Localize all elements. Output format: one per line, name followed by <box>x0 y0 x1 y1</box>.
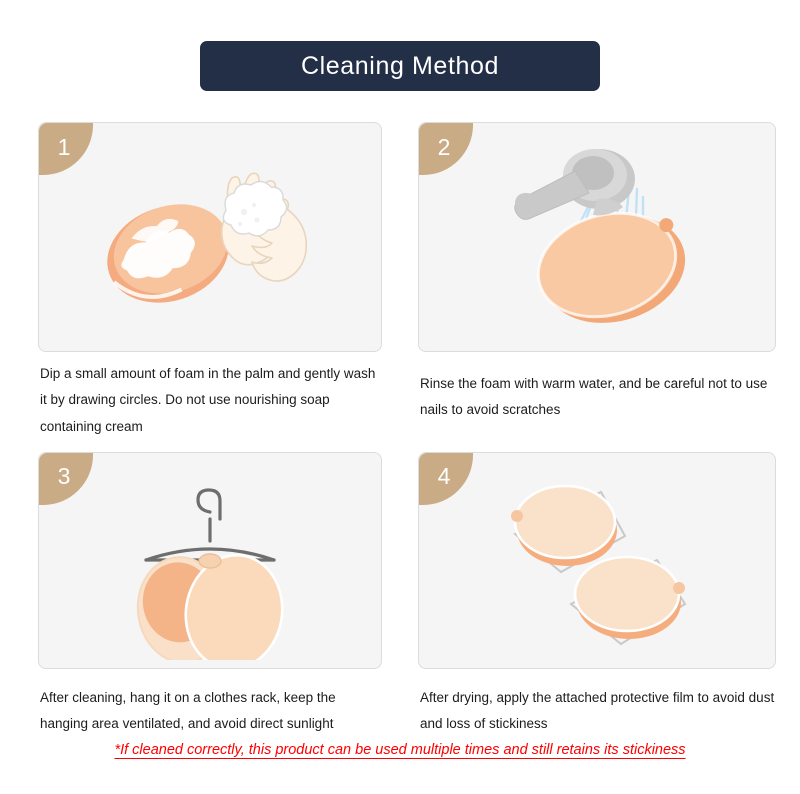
step-row-top: 1 <box>0 122 800 440</box>
step-caption-1: Dip a small amount of foam in the palm a… <box>38 361 382 440</box>
step-cell-1: 1 <box>0 122 400 440</box>
step-panel-1: 1 <box>38 122 382 352</box>
pads-with-protective-film-icon <box>419 453 775 668</box>
step-row-bottom: 3 <box>0 452 800 738</box>
step-caption-2: Rinse the foam with warm water, and be c… <box>418 371 776 424</box>
page-title-bar: Cleaning Method <box>200 41 600 91</box>
hands-washing-pad-with-foam-icon <box>39 123 381 351</box>
step-panel-2: 2 <box>418 122 776 352</box>
step-caption-4: After drying, apply the attached protect… <box>418 685 776 738</box>
faucet-rinsing-pad-icon <box>419 123 775 351</box>
step-cell-2: 2 <box>400 122 800 440</box>
cleaning-steps-grid: 1 <box>0 122 800 738</box>
page-title: Cleaning Method <box>301 52 499 81</box>
step-panel-4: 4 <box>418 452 776 669</box>
step-cell-4: 4 <box>400 452 800 738</box>
footer-note: *If cleaned correctly, this product can … <box>0 742 800 758</box>
step-panel-3: 3 <box>38 452 382 669</box>
step-caption-3: After cleaning, hang it on a clothes rac… <box>38 685 382 738</box>
step-cell-3: 3 <box>0 452 400 738</box>
clothes-hanger-drying-pads-icon <box>39 453 381 668</box>
